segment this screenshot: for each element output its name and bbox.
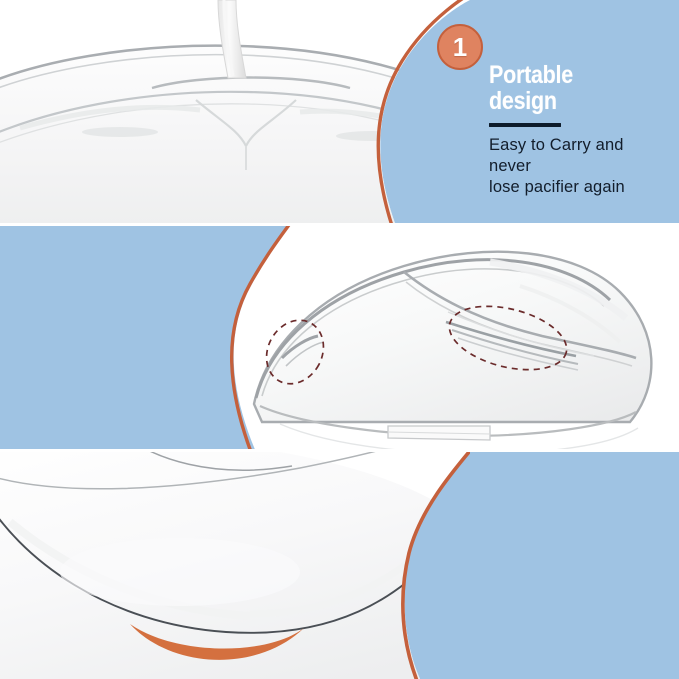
product-art-extending-buckle xyxy=(190,226,679,452)
feature-panel-2: Extending Buckle Design Made it more fir… xyxy=(0,226,679,452)
panel-divider-2 xyxy=(0,449,679,452)
feature-body-1: Easy to Carry and never lose pacifier ag… xyxy=(489,135,669,198)
feature-title-1: Portable design xyxy=(489,62,644,114)
product-art-portable-design xyxy=(0,0,470,226)
product-feature-infographic: Portable design Easy to Carry and never … xyxy=(0,0,679,679)
panel-divider-1 xyxy=(0,223,679,226)
product-stage-2 xyxy=(190,226,679,452)
product-stage-1 xyxy=(0,0,470,226)
feature-panel-3: Egg shell design The design principle of… xyxy=(0,452,679,679)
feature-panel-1: Portable design Easy to Carry and never … xyxy=(0,0,679,226)
feature-text-1: Portable design Easy to Carry and never … xyxy=(489,62,669,198)
step-number-1: 1 xyxy=(437,24,483,70)
product-art-egg-shell xyxy=(0,452,470,679)
title-underline-1 xyxy=(489,123,561,127)
product-stage-3 xyxy=(0,452,470,679)
